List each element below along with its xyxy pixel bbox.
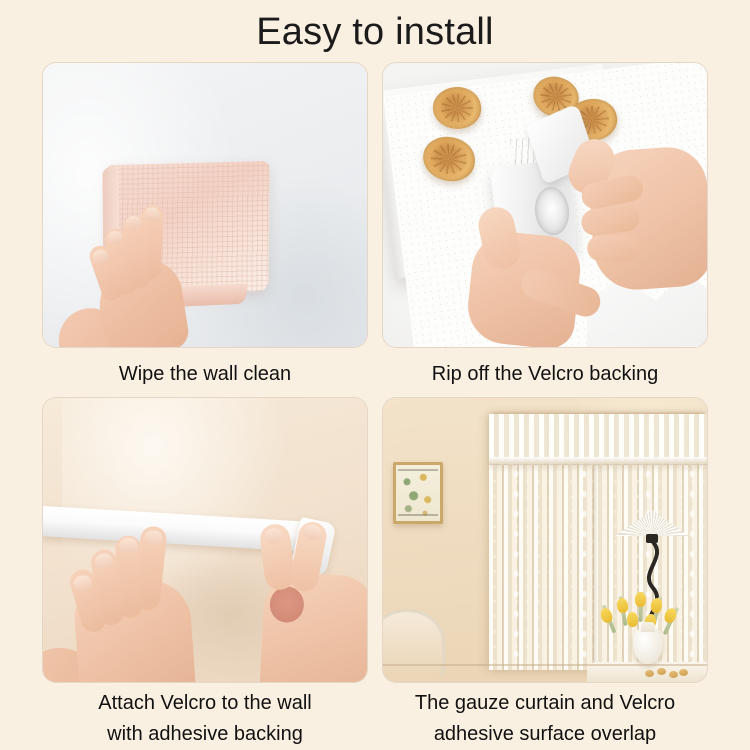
- right-hand: [563, 120, 707, 310]
- step-4-caption-line-2: adhesive surface overlap: [373, 719, 717, 750]
- lamp-shade: [615, 510, 689, 536]
- gauze-curtain-room-photo: [383, 398, 707, 682]
- step-2-caption: Rip off the Velcro backing: [373, 359, 717, 390]
- snack-nuts: [645, 668, 689, 680]
- curtain-valance: [489, 414, 707, 465]
- step-4-caption-line-1: The gauze curtain and Velcro: [373, 688, 717, 719]
- step-1-caption: Wipe the wall clean: [33, 359, 377, 390]
- attach-velcro-photo: [43, 398, 367, 682]
- framed-picture: [393, 462, 443, 524]
- rip-velcro-backing-photo: [383, 63, 707, 347]
- step-3-caption-line-2: with adhesive backing: [33, 719, 377, 750]
- floor-line: [383, 664, 707, 666]
- right-hand: [234, 518, 367, 682]
- page-title: Easy to install: [0, 8, 750, 56]
- step-3-caption-line-1: Attach Velcro to the wall: [33, 688, 377, 719]
- wipe-wall-photo: [43, 63, 367, 347]
- hand: [80, 202, 234, 347]
- product-infographic: Easy to install Wipe the wall clean: [0, 0, 750, 750]
- left-hand: [68, 515, 242, 682]
